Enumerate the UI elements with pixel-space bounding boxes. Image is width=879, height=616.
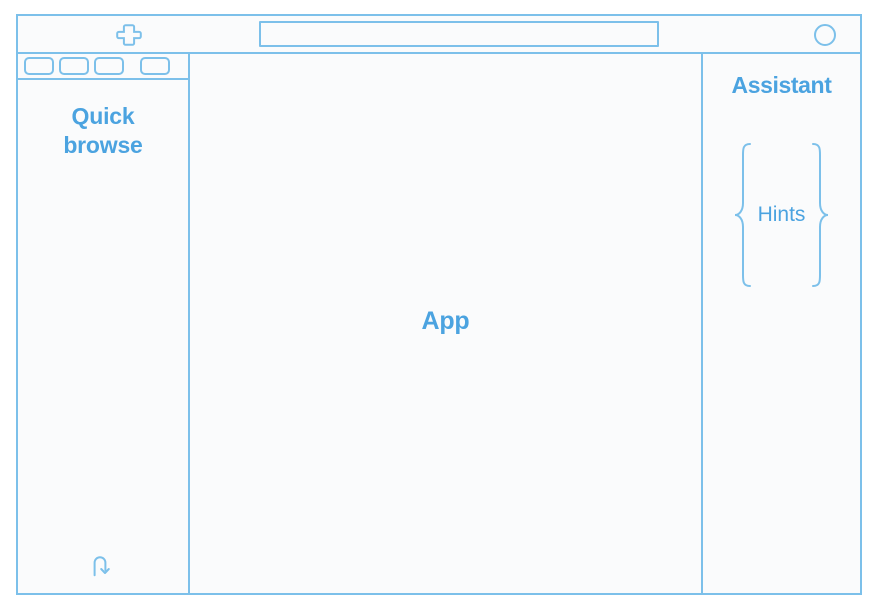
profile-circle-icon[interactable] (814, 24, 836, 46)
left-curly-brace-icon (732, 141, 754, 289)
sidebar-title: Quick browse (18, 102, 188, 161)
assistant-title: Assistant (732, 72, 832, 99)
sidebar-tab-2[interactable] (59, 57, 89, 75)
quick-browse-sidebar: Quick browse (18, 54, 190, 593)
sidebar-tab-1[interactable] (24, 57, 54, 75)
sidebar-new-tab-button[interactable] (140, 57, 170, 75)
u-turn-arrow-icon[interactable] (89, 551, 117, 579)
search-input[interactable] (259, 21, 659, 47)
sidebar-footer (18, 537, 188, 593)
sidebar-tab-3[interactable] (94, 57, 124, 75)
sidebar-title-line-2: browse (28, 131, 178, 160)
header-bar (18, 16, 860, 54)
app-label: App (422, 307, 470, 336)
hints-block: Hints (714, 141, 850, 289)
sidebar-tab-strip (18, 54, 188, 80)
wireframe-canvas: Quick browse App (0, 0, 879, 616)
assistant-panel: Assistant Hints (703, 54, 860, 593)
main-content-row: Quick browse App (18, 54, 860, 593)
sidebar-spacer (18, 161, 188, 537)
right-curly-brace-icon (809, 141, 831, 289)
hints-label: Hints (754, 203, 810, 227)
app-panel: App (190, 54, 703, 593)
sidebar-title-line-1: Quick (28, 102, 178, 131)
window-frame: Quick browse App (16, 14, 862, 595)
plus-icon[interactable] (114, 23, 144, 47)
